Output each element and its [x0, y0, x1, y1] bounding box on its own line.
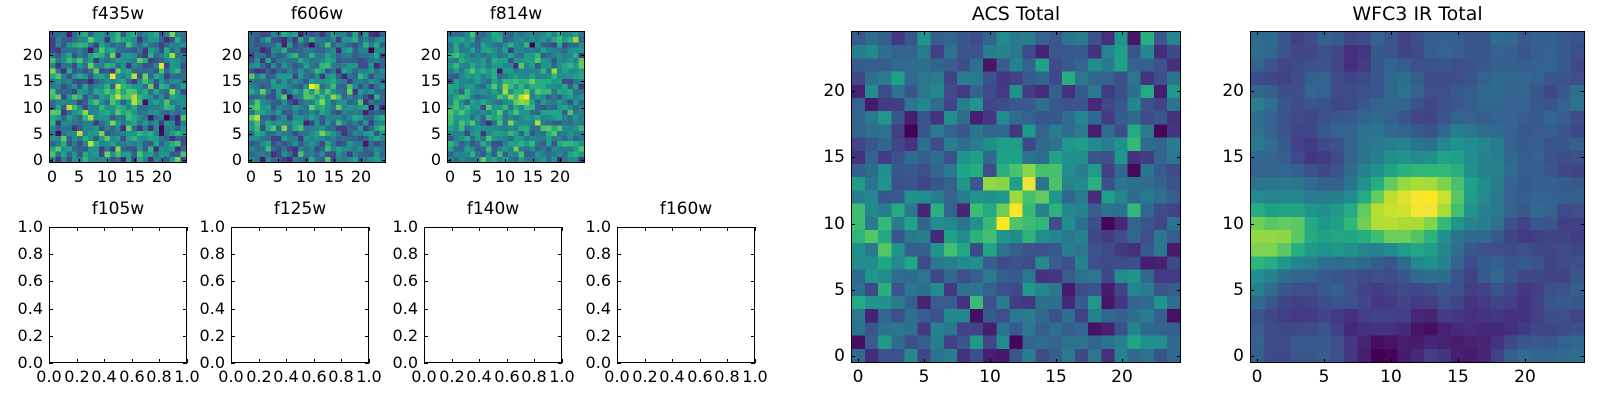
yticklabel-wfc3_ir_total-2: 10 [1190, 216, 1244, 232]
ytick-wfc3_ir_total-2 [1250, 224, 1254, 225]
heatmap-image-wfc3_ir_total [1251, 32, 1584, 362]
xticklabel-wfc3_ir_total-2: 10 [1380, 369, 1402, 385]
yticklabel-wfc3_ir_total-4: 20 [1190, 83, 1244, 99]
xtick-wfc3_ir_total-4 [1525, 359, 1526, 363]
axes-wfc3_ir_total [1250, 31, 1585, 363]
xticklabel-wfc3_ir_total-3: 15 [1447, 369, 1469, 385]
xtick-wfc3_ir_total-0 [1257, 359, 1258, 363]
xtick-top-wfc3_ir_total-1 [1324, 31, 1325, 35]
xticklabel-wfc3_ir_total-1: 5 [1319, 369, 1330, 385]
xtick-top-wfc3_ir_total-4 [1525, 31, 1526, 35]
ytick-right-wfc3_ir_total-4 [1581, 91, 1585, 92]
yticklabel-wfc3_ir_total-1: 5 [1190, 282, 1244, 298]
panel-wfc3_ir_total: WFC3 IR Total0510152005101520 [0, 0, 1600, 400]
xtick-top-wfc3_ir_total-0 [1257, 31, 1258, 35]
xtick-wfc3_ir_total-2 [1391, 359, 1392, 363]
ytick-wfc3_ir_total-3 [1250, 157, 1254, 158]
xticklabel-wfc3_ir_total-0: 0 [1252, 369, 1263, 385]
yticklabel-wfc3_ir_total-3: 15 [1190, 149, 1244, 165]
figure-canvas: f435w0510152005101520f606w05101520051015… [0, 0, 1600, 400]
panel-title-wfc3_ir_total: WFC3 IR Total [1250, 6, 1585, 23]
yticklabel-wfc3_ir_total-0: 0 [1190, 348, 1244, 364]
xticklabel-wfc3_ir_total-4: 20 [1514, 369, 1536, 385]
ytick-right-wfc3_ir_total-2 [1581, 224, 1585, 225]
ytick-wfc3_ir_total-0 [1250, 356, 1254, 357]
xtick-top-wfc3_ir_total-3 [1458, 31, 1459, 35]
ytick-wfc3_ir_total-1 [1250, 290, 1254, 291]
xtick-wfc3_ir_total-3 [1458, 359, 1459, 363]
xtick-wfc3_ir_total-1 [1324, 359, 1325, 363]
ytick-wfc3_ir_total-4 [1250, 91, 1254, 92]
ytick-right-wfc3_ir_total-3 [1581, 157, 1585, 158]
xtick-top-wfc3_ir_total-2 [1391, 31, 1392, 35]
ytick-right-wfc3_ir_total-1 [1581, 290, 1585, 291]
ytick-right-wfc3_ir_total-0 [1581, 356, 1585, 357]
